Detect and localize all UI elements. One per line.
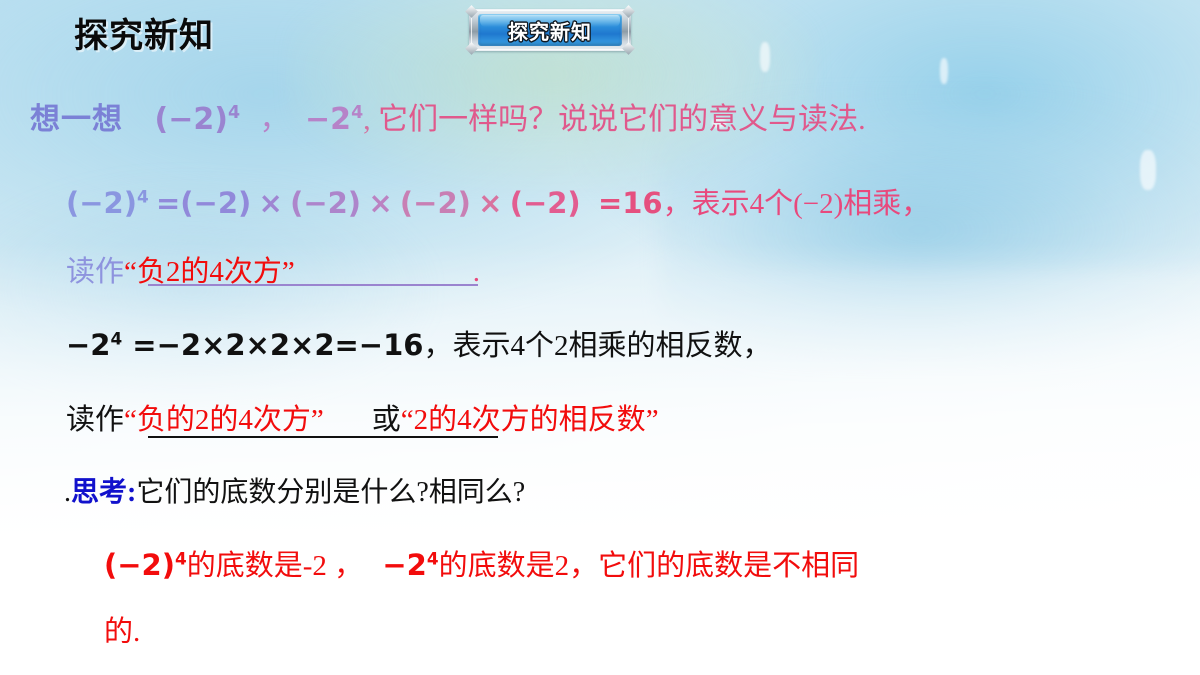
prompt-comma-1: ， [260, 103, 290, 136]
expansion-positive-result: =16 [598, 186, 663, 220]
prompt-comma-2: , [363, 103, 371, 136]
expansion-positive-equals: = [156, 186, 180, 220]
expansion-positive-factor-3: (−2) [400, 186, 471, 220]
conclusion-part-b-exponent: 4 [427, 548, 439, 568]
expansion-positive-base: (−2) [66, 186, 137, 220]
expansion-negative-explanation: ，表示4个2相乘的相反数， [423, 330, 771, 362]
think-bullet: . [64, 477, 71, 508]
reading-negative-quote-open-1: “ [124, 404, 137, 436]
think-label: 思考: [71, 477, 136, 508]
prompt-expression-b-base: −2 [305, 102, 351, 137]
page-title: 探究新知 [74, 8, 214, 57]
think-prompt-line: .思考:它们的底数分别是什么?相同么? [64, 470, 525, 510]
conclusion-part-a-base: (−2) [104, 548, 175, 582]
prompt-line: 想一想 (−2)4 ， −24, 它们一样吗？说说它们的意义与读法. [30, 94, 866, 138]
section-badge: 探究新知 [469, 9, 631, 51]
reading-negative-answer-1: 负的2的4次方 [137, 404, 311, 436]
conclusion-part-a-exponent: 4 [175, 548, 187, 568]
expansion-positive-explanation: ，表示4个(−2)相乘， [663, 188, 931, 220]
expansion-positive-exponent: 4 [137, 186, 149, 206]
reading-negative-blank-underline [148, 436, 498, 438]
reading-negative-quote-close-2: ” [646, 404, 659, 436]
reading-negative-conjunction: 或 [372, 404, 401, 436]
reading-negative-answer-2: 2的4次方的相反数 [414, 404, 646, 436]
reading-negative-line: 读作“负的2的4次方”或“2的4次方的相反数” [66, 396, 659, 438]
prompt-expression-b-exponent: 4 [351, 103, 363, 123]
expansion-positive-factor-2: (−2) [290, 186, 361, 220]
slide-canvas: 探究新知 探究新知 想一想 (−2)4 ， −24, 它们一样吗？说说它们的意义… [0, 0, 1200, 675]
conclusion-part-a-text: 的底数是-2 ， [187, 550, 363, 582]
conclusion-part-b-text: 的底数是2，它们的底数是不相同 [439, 550, 860, 582]
expansion-positive-times-2: × [368, 186, 392, 220]
expansion-negative-equals: =−2×2×2×2=−16 [132, 328, 423, 362]
expansion-positive-factor-1: (−2) [180, 186, 251, 220]
expansion-negative-base: −2 [66, 328, 110, 362]
expansion-positive-factor-4: (−2) [510, 186, 581, 220]
expansion-negative-exponent: 4 [110, 328, 122, 348]
expansion-positive-line: (−2)4 =(−2) × (−2) × (−2) × (−2) =16，表示4… [66, 180, 930, 222]
prompt-expression-a-exponent: 4 [228, 103, 240, 123]
think-question: 它们的底数分别是什么?相同么? [136, 477, 525, 508]
prompt-expression-a-base: (−2) [155, 102, 228, 137]
reading-negative-quote-open-2: “ [401, 404, 414, 436]
reading-negative-label: 读作 [66, 404, 124, 436]
prompt-question-text: 它们一样吗？说说它们的意义与读法. [378, 103, 866, 136]
reading-positive-label: 读作 [66, 256, 124, 288]
reading-positive-blank-underline [148, 284, 478, 286]
conclusion-part-b-base: −2 [382, 548, 426, 582]
reading-negative-quote-close-1: ” [311, 404, 324, 436]
reading-positive-quote-open: “ [124, 256, 137, 288]
badge-label: 探究新知 [469, 9, 631, 51]
prompt-lead-label: 想一想 [30, 103, 123, 136]
conclusion-line-2: 的. [104, 608, 140, 650]
expansion-negative-line: −24 =−2×2×2×2=−16，表示4个2相乘的相反数， [66, 322, 771, 364]
expansion-positive-times-3: × [478, 186, 502, 220]
conclusion-line-1: (−2)4的底数是-2 ， −24的底数是2，它们的底数是不相同 [104, 542, 859, 584]
expansion-positive-times-1: × [259, 186, 283, 220]
